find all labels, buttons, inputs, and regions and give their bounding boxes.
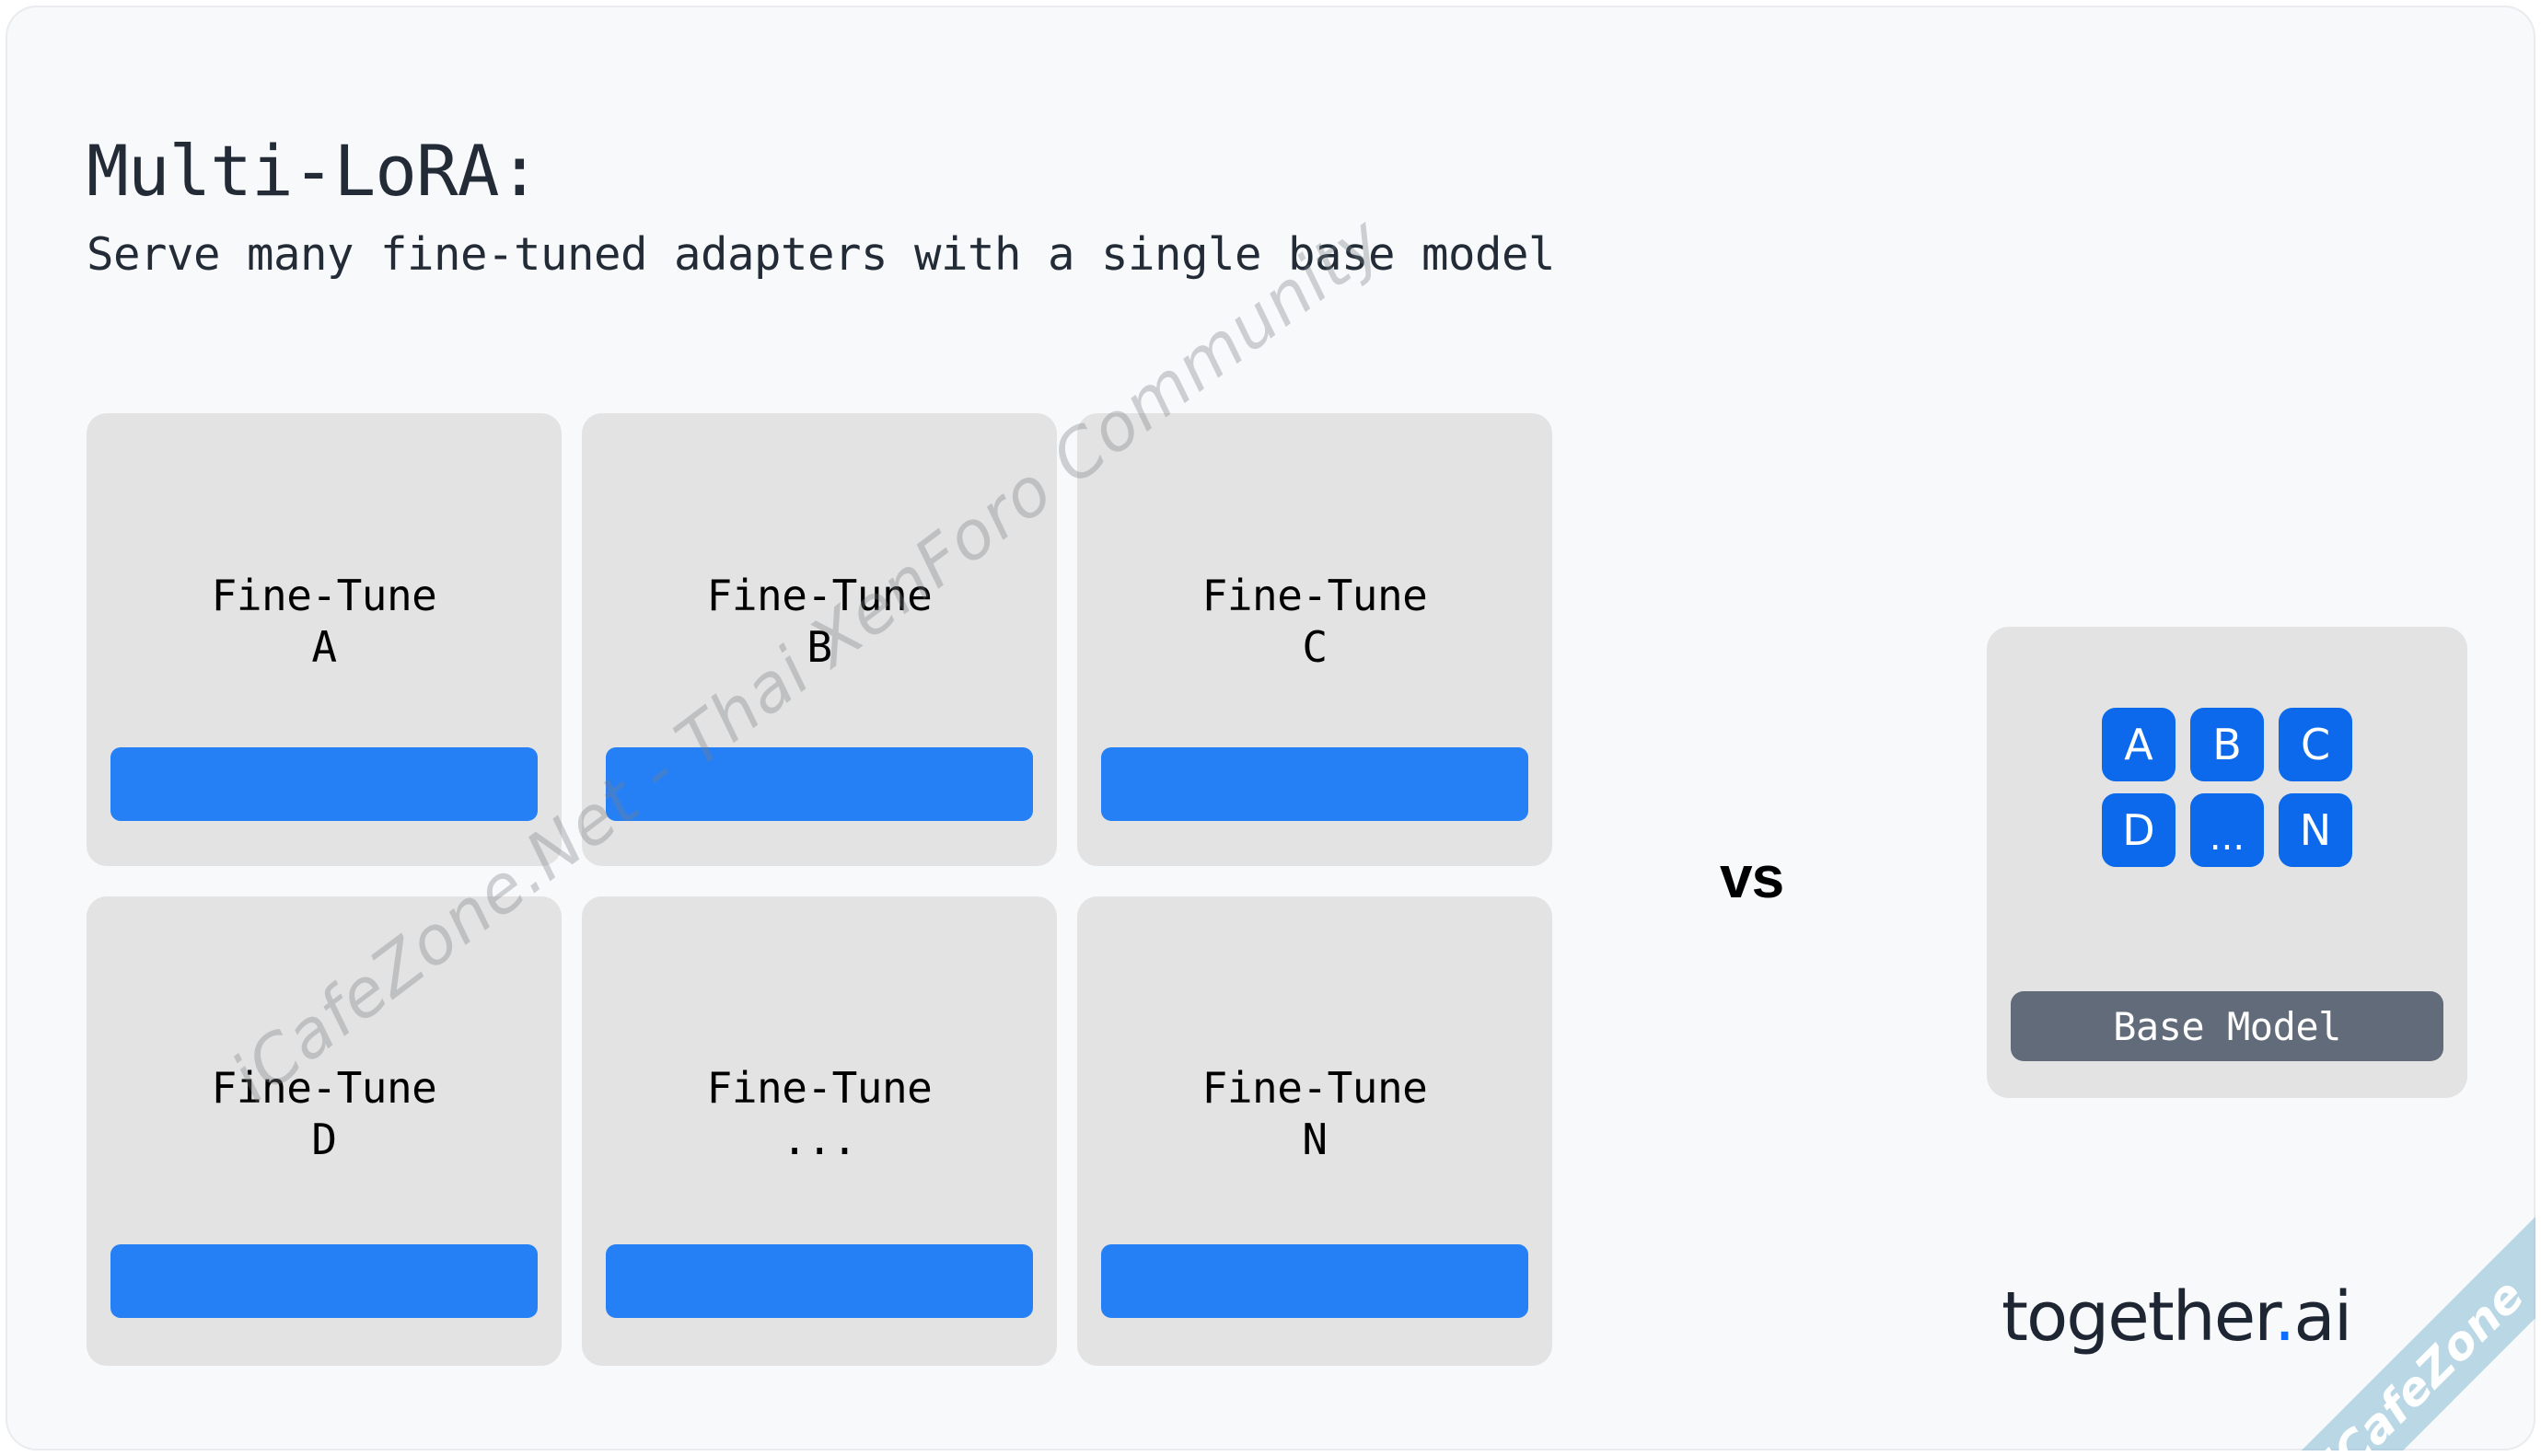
infographic-canvas: Multi-LoRA: Serve many fine-tuned adapte… [0,0,2541,1456]
finetune-card-d[interactable]: Fine-Tune D [87,896,562,1366]
adapter-chip-n[interactable]: N [2279,793,2352,867]
finetune-card-label: Fine-Tune A [87,570,562,673]
page-title: Multi-LoRA: [87,134,2112,208]
finetune-card-label: Fine-Tune B [582,570,1057,673]
finetune-card-c[interactable]: Fine-Tune C [1077,413,1552,866]
adapter-bar [606,747,1033,821]
adapter-bar [110,747,538,821]
finetune-card-letter: N [1077,1114,1552,1165]
finetune-card-a[interactable]: Fine-Tune A [87,413,562,866]
finetune-card-letter: B [582,621,1057,673]
finetune-card-letter: ... [582,1114,1057,1165]
adapter-chip-d[interactable]: D [2102,793,2176,867]
adapter-chip-ellipsis[interactable]: ... [2190,793,2264,867]
finetune-card-ellipsis[interactable]: Fine-Tune ... [582,896,1057,1366]
finetune-card-letter: C [1077,621,1552,673]
slide-panel: Multi-LoRA: Serve many fine-tuned adapte… [6,6,2535,1450]
finetune-card-n[interactable]: Fine-Tune N [1077,896,1552,1366]
finetune-card-label: Fine-Tune N [1077,1062,1552,1165]
adapter-bar [1101,747,1528,821]
finetune-card-label: Fine-Tune D [87,1062,562,1165]
base-model-panel: A B C D ... N Base Model [1987,627,2467,1098]
finetune-card-grid: Fine-Tune A Fine-Tune B Fine-Tune C [87,413,1552,1373]
finetune-card-letter: A [87,621,562,673]
vs-label: vs [1720,843,1783,911]
finetune-card-label: Fine-Tune C [1077,570,1552,673]
finetune-card-name: Fine-Tune [707,571,933,620]
adapter-bar [1101,1244,1528,1318]
adapter-bar [110,1244,538,1318]
finetune-card-b[interactable]: Fine-Tune B [582,413,1057,866]
logo-dot: . [2274,1277,2294,1357]
adapter-bar [606,1244,1033,1318]
finetune-card-name: Fine-Tune [212,1063,437,1113]
page-subtitle: Serve many fine-tuned adapters with a si… [87,228,2112,281]
adapter-chip-b[interactable]: B [2190,708,2264,781]
together-ai-logo: together.ai [2001,1277,2350,1357]
finetune-card-name: Fine-Tune [1202,1063,1428,1113]
adapter-chip-c[interactable]: C [2279,708,2352,781]
finetune-card-name: Fine-Tune [707,1063,933,1113]
logo-suffix: ai [2293,1277,2350,1357]
adapter-chip-a[interactable]: A [2102,708,2176,781]
adapter-chip-grid: A B C D ... N [2102,708,2352,867]
heading-block: Multi-LoRA: Serve many fine-tuned adapte… [87,134,2112,281]
finetune-card-name: Fine-Tune [1202,571,1428,620]
finetune-card-label: Fine-Tune ... [582,1062,1057,1165]
base-model-pill: Base Model [2011,991,2443,1061]
finetune-card-letter: D [87,1114,562,1165]
logo-wordmark: together [2001,1277,2274,1357]
finetune-card-name: Fine-Tune [212,571,437,620]
